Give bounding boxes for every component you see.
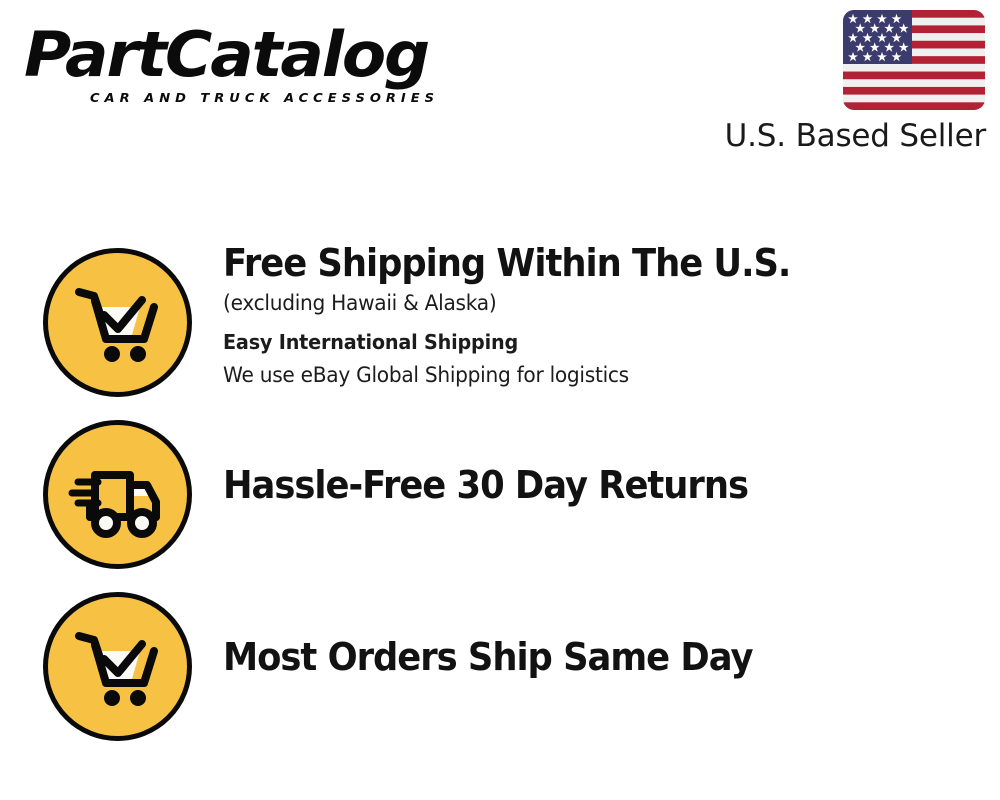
partcatalog-logo[interactable]: PartCatalog CAR AND TRUCK ACCESSORIES [24, 22, 494, 118]
feature-text-block: Most Orders Ship Same Day [223, 634, 963, 680]
brand-tagline: CAR AND TRUCK ACCESSORIES [90, 92, 439, 106]
shopping-cart-check-icon [43, 248, 192, 397]
us-flag-icon [843, 10, 985, 110]
delivery-truck-icon [43, 420, 192, 569]
shopping-cart-check-icon [43, 592, 192, 741]
feature-text-block: Free Shipping Within The U.S. (excluding… [223, 240, 963, 392]
feature-subtext-international-heading: Easy International Shipping [223, 326, 933, 358]
feature-row: Free Shipping Within The U.S. (excluding… [0, 240, 1000, 410]
feature-subtext-exclusions: (excluding Hawaii & Alaska) [223, 286, 933, 320]
feature-heading: Most Orders Ship Same Day [223, 634, 911, 680]
brand-wordmark: PartCatalog [24, 22, 513, 88]
feature-subtext-international-detail: We use eBay Global Shipping for logistic… [223, 358, 933, 392]
feature-text-block: Hassle-Free 30 Day Returns [223, 462, 963, 508]
feature-heading: Hassle-Free 30 Day Returns [223, 462, 911, 508]
feature-row: Most Orders Ship Same Day [0, 584, 1000, 749]
us-based-seller-label: U.S. Based Seller [725, 118, 986, 154]
feature-row: Hassle-Free 30 Day Returns [0, 412, 1000, 577]
feature-heading: Free Shipping Within The U.S. [223, 240, 911, 286]
page-header: PartCatalog CAR AND TRUCK ACCESSORIES [0, 0, 1000, 170]
